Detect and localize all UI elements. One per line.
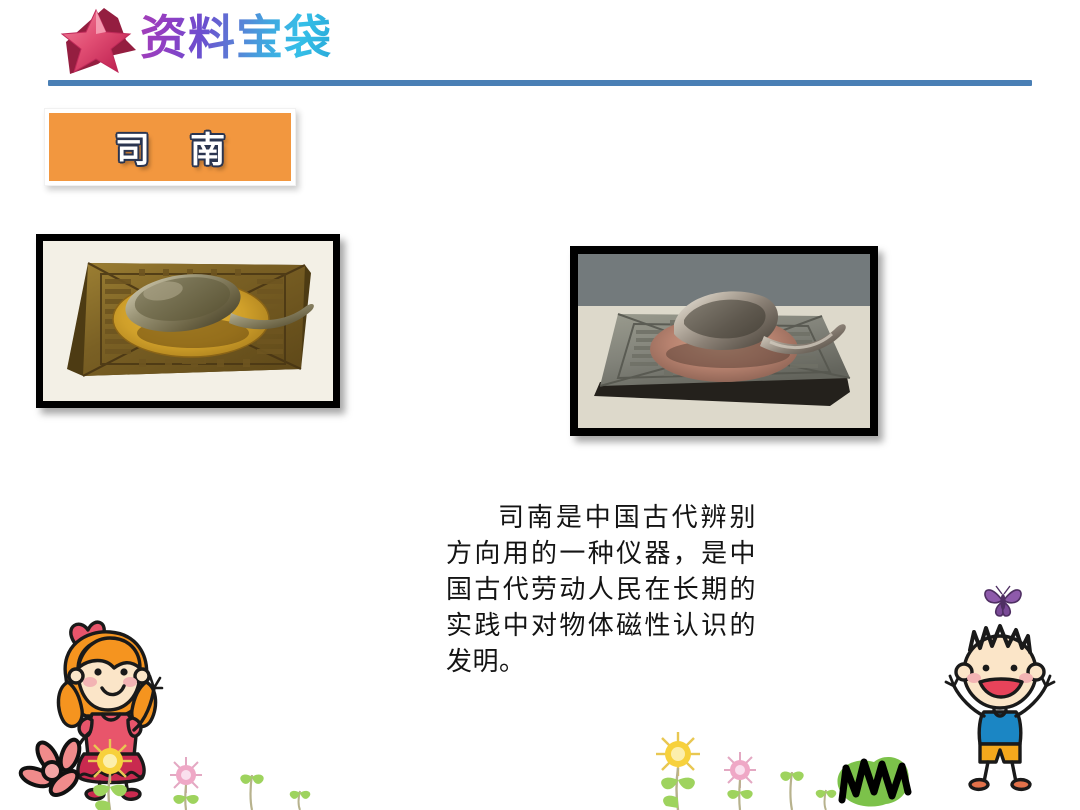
flowers-right-icon [630, 728, 910, 810]
sinan-silver-photo [570, 246, 878, 436]
subject-label-box: 司 南 [44, 108, 296, 186]
page-title: 资料宝袋 [140, 9, 332, 69]
subject-label-text: 司 南 [101, 122, 239, 173]
sinan-bronze-image [43, 241, 333, 401]
butterfly-icon [980, 578, 1026, 618]
sinan-silver-image [578, 254, 870, 428]
star-icon [52, 6, 140, 78]
subject-label-fill: 司 南 [49, 113, 291, 181]
flowers-left-icon [18, 735, 318, 810]
description-paragraph: 司南是中国古代辨别方向用的一种仪器，是中国古代劳动人民在长期的实践中对物体磁性认… [446, 500, 756, 680]
slide-header: 资料宝袋 [0, 0, 1080, 92]
boy-cartoon-icon [930, 620, 1070, 800]
header-divider [48, 80, 1032, 86]
sinan-bronze-photo [36, 234, 340, 408]
